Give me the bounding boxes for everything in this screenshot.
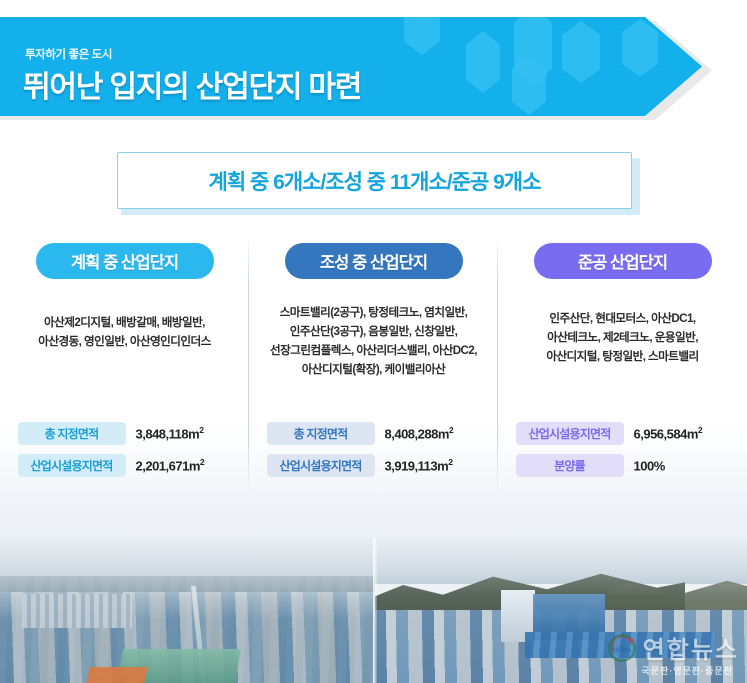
facility-line: 아산디지털(확장), 케이밸리아산 [270,360,477,379]
photo-factory-roofs [525,632,715,658]
facility-list-planned: 아산제2디지털, 배방갈매, 배방일반, 아산경동, 영인일반, 아산영인디인더… [38,313,211,351]
stat-value: 8,408,288m2 [385,425,481,441]
stat-label: 산업시설용지면적 [18,454,126,477]
facility-line: 아산디지털, 탕정일반, 스마트밸리 [546,347,698,366]
stat-row: 산업시설용지면적 6,956,584m2 [516,422,730,445]
stats-planned: 총 지정면적 3,848,118m2 산업시설용지면적 2,201,671m2 [0,422,249,477]
facility-list-under-construction: 스마트밸리(2공구), 탕정테크노, 염치일반, 인주산단(3공구), 음봉일반… [270,303,477,379]
summary-text: 계획 중 6개소/조성 중 11개소/준공 9개소 [209,166,541,196]
column-completed: 준공 산업단지 인주산단, 현대모터스, 아산DC1, 아산테크노, 제2테크노… [498,243,747,508]
hexagon-decor-icon [466,31,500,93]
stat-row: 총 지정면적 8,408,288m2 [267,422,481,445]
stats-completed: 산업시설용지면적 6,956,584m2 분양률 100% [498,422,747,477]
photo-orange-roof [86,667,147,683]
column-heading-under-construction: 조성 중 산업단지 [285,243,463,279]
facility-list-completed: 인주산단, 현대모터스, 아산DC1, 아산테크노, 제2테크노, 운용일반, … [546,309,698,366]
watermark-subtext: 국문판·영문판·중문판 [641,664,733,677]
stats-under-construction: 총 지정면적 8,408,288m2 산업시설용지면적 3,919,113m2 [249,422,498,477]
stat-value-number: 100% [634,459,665,474]
stat-value: 3,848,118m2 [136,425,232,441]
stat-value: 2,201,671m2 [136,457,232,473]
stat-value-number: 3,848,118m [136,427,200,442]
stat-label: 총 지정면적 [18,422,126,445]
summary-box: 계획 중 6개소/조성 중 11개소/준공 9개소 [117,152,632,209]
facility-line: 선장그린컴플렉스, 아산리더스밸리, 아산DC2, [270,341,477,360]
stat-value-number: 2,201,671m [136,459,200,474]
facility-line: 스마트밸리(2공구), 탕정테크노, 염치일반, [270,303,477,322]
stat-label: 산업시설용지면적 [267,454,375,477]
stat-value: 100% [634,457,730,473]
photo-aerial-industrial-complex-right [375,538,747,683]
stat-row: 총 지정면적 3,848,118m2 [18,422,232,445]
stat-value-unit: 2 [199,425,203,435]
stat-label: 분양률 [516,454,624,477]
stat-row: 분양률 100% [516,454,730,477]
hexagon-decor-icon [622,19,658,77]
stat-value-number: 8,408,288m [385,427,449,442]
stat-value: 6,956,584m2 [634,425,730,441]
header-banner: 투자하기 좋은 도시 뛰어난 입지의 산업단지 마련 [0,17,747,120]
photo-divider [373,538,377,683]
stat-value-unit: 2 [200,457,204,467]
facility-line: 아산제2디지털, 배방갈매, 배방일반, [38,313,211,332]
hexagon-decor-icon [404,17,440,55]
facility-line: 아산경동, 영인일반, 아산영인디인더스 [38,332,211,351]
photo-aerial-industrial-complex-left [0,538,375,683]
photo-sky [375,538,747,584]
stat-value-number: 6,956,584m [634,427,698,442]
hexagon-decor-icon [562,21,600,83]
column-heading-completed: 준공 산업단지 [534,243,712,279]
stat-value-unit: 2 [698,425,702,435]
stat-row: 산업시설용지면적 2,201,671m2 [18,454,232,477]
header-title: 뛰어난 입지의 산업단지 마련 [23,62,361,106]
stat-row: 산업시설용지면적 3,919,113m2 [267,454,481,477]
header-subtitle: 투자하기 좋은 도시 [25,46,112,62]
stat-value-number: 3,919,113m [385,459,449,474]
facility-line: 인주산단(3공구), 음봉일반, 신창일반, [270,322,477,341]
facility-line: 인주산단, 현대모터스, 아산DC1, [546,309,698,328]
column-under-construction: 조성 중 산업단지 스마트밸리(2공구), 탕정테크노, 염치일반, 인주산단(… [249,243,498,508]
photo-apartment-towers [22,594,132,628]
column-planned: 계획 중 산업단지 아산제2디지털, 배방갈매, 배방일반, 아산경동, 영인일… [0,243,249,508]
facility-line: 아산테크노, 제2테크노, 운용일반, [546,328,698,347]
stat-value: 3,919,113m2 [385,457,481,473]
photo-strip: NEWS 연합뉴스 국문판·영문판·중문판 [0,538,747,683]
stat-value-unit: 2 [449,425,453,435]
stat-value-unit: 2 [448,457,452,467]
stat-label: 총 지정면적 [267,422,375,445]
stat-label: 산업시설용지면적 [516,422,624,445]
infographic-page: 투자하기 좋은 도시 뛰어난 입지의 산업단지 마련 계획 중 6개소/조성 중… [0,0,747,683]
column-heading-planned: 계획 중 산업단지 [36,243,214,279]
columns-container: 계획 중 산업단지 아산제2디지털, 배방갈매, 배방일반, 아산경동, 영인일… [0,243,747,508]
